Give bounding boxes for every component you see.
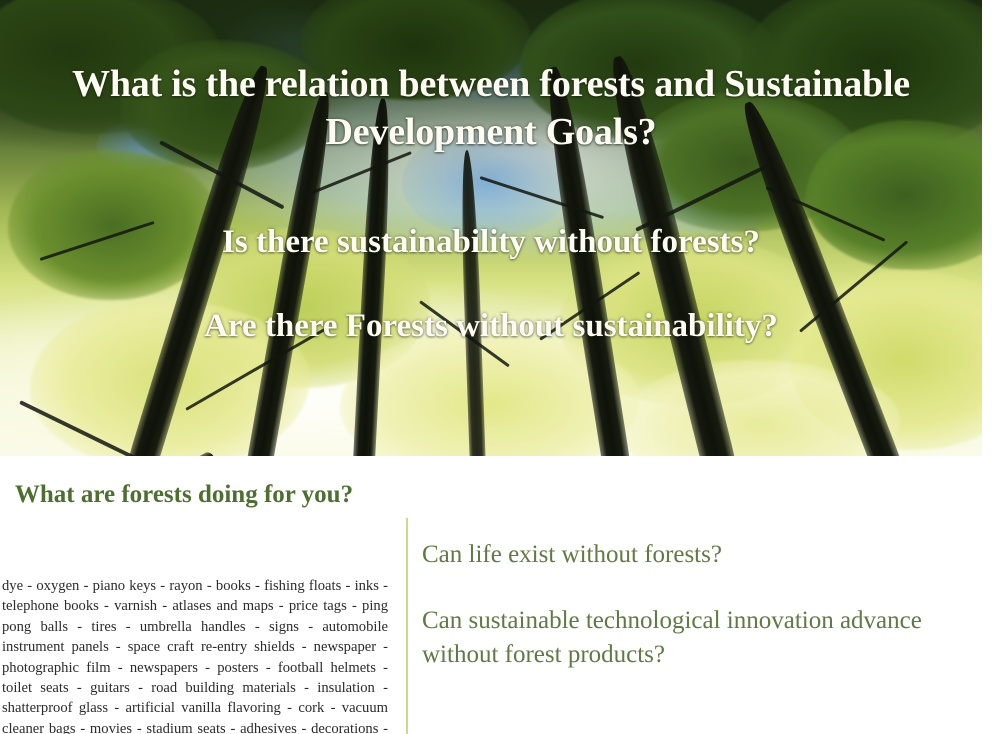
right-question-2: Can sustainable technological innovation…: [422, 604, 967, 672]
right-column: Can life exist without forests? Can sust…: [422, 456, 982, 734]
left-column: What are forests doing for you? dye - ox…: [0, 456, 400, 734]
forest-products-list: dye - oxygen - piano keys - rayon - book…: [2, 576, 388, 734]
hero-forest-image: What is the relation between forests and…: [0, 0, 982, 456]
slide-main-title: What is the relation between forests and…: [0, 60, 982, 156]
hero-question-1: Is there sustainability without forests?: [0, 222, 982, 262]
hero-question-2: Are there Forests without sustainability…: [0, 306, 982, 346]
left-column-heading: What are forests doing for you?: [0, 478, 368, 511]
hero-text-overlay: What is the relation between forests and…: [0, 0, 982, 456]
lower-content-area: What are forests doing for you? dye - ox…: [0, 456, 992, 734]
presentation-slide: What is the relation between forests and…: [0, 0, 992, 734]
column-divider: [406, 518, 408, 734]
right-question-1: Can life exist without forests?: [422, 538, 962, 572]
